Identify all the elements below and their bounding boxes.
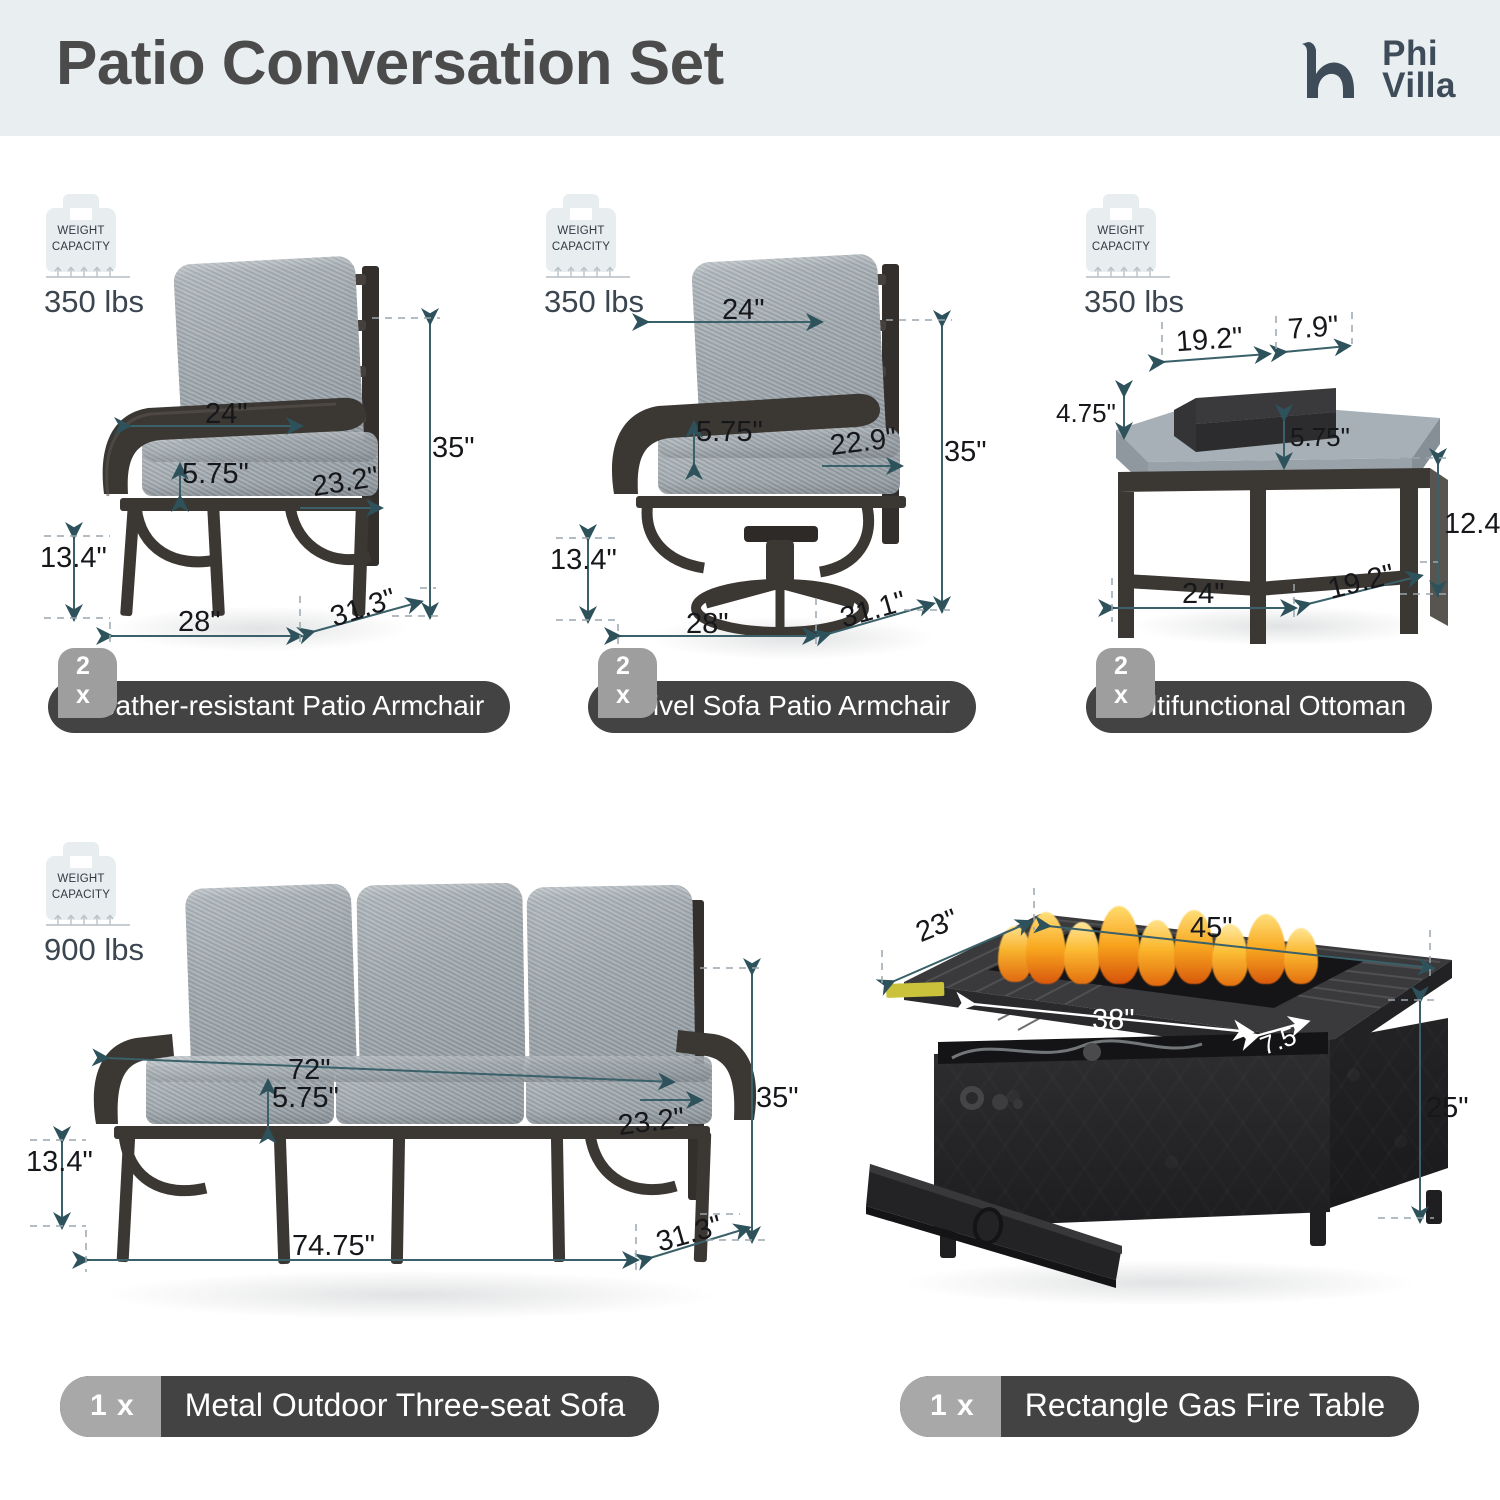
sofa-leg-curve — [110, 1126, 730, 1246]
dim-armchair-width: 28" — [178, 606, 221, 639]
ottoman-illustration — [1100, 366, 1460, 656]
dim-sofa-seat-height: 13.4" — [26, 1146, 93, 1179]
ottoman-frame — [1100, 466, 1460, 656]
badge-qty-ottoman: 2 x — [1096, 648, 1155, 718]
armchair-illustration — [90, 246, 460, 666]
dim-armchair-total-height: 35" — [432, 432, 475, 465]
fire-table-access-panel[interactable] — [860, 1140, 1180, 1320]
product-card-ottoman: WEIGHT CAPACITY 350 lbs — [1040, 136, 1500, 756]
fire-table-control-knob[interactable] — [952, 1080, 1032, 1120]
weight-capacity-label-line2: CAPACITY — [1086, 240, 1156, 256]
badge-qty-sofa: 1 x — [60, 1376, 161, 1437]
page-header: Patio Conversation Set Phi Villa — [0, 0, 1500, 136]
dim-swivel-back-width: 24" — [722, 294, 765, 327]
fire-flames — [992, 900, 1332, 990]
dim-firetable-burner-width: 38" — [1092, 1004, 1135, 1037]
badge-name-sofa: Metal Outdoor Three-seat Sofa — [161, 1376, 660, 1437]
dim-ottoman-width: 24" — [1182, 578, 1225, 611]
weight-capacity-value: 350 lbs — [1084, 284, 1184, 320]
dim-ottoman-frame-height: 12.4" — [1444, 508, 1500, 541]
badge-name-armchair: Weather-resistant Patio Armchair — [48, 681, 510, 733]
logo-line-villa: Villa — [1382, 70, 1456, 102]
product-card-swivel-armchair: WEIGHT CAPACITY 350 lbs — [500, 136, 1040, 756]
product-card-armchair: WEIGHT CAPACITY 350 lbs — [0, 136, 500, 756]
dim-firetable-height: 25" — [1426, 1092, 1469, 1125]
dim-ottoman-cushion-width: 19.2" — [1175, 322, 1244, 360]
badge-qty-swivel: 2 x — [598, 648, 657, 718]
weight-capacity-block-ottoman: WEIGHT CAPACITY 350 lbs — [1086, 194, 1156, 272]
weight-capacity-label-line1: WEIGHT — [546, 224, 616, 240]
fire-table-illustration — [860, 890, 1480, 1310]
armchair-leg-curve — [120, 498, 380, 608]
product-card-three-seat-sofa: WEIGHT CAPACITY 900 lbs — [0, 800, 820, 1500]
brand-logo: Phi Villa — [1298, 34, 1456, 106]
dim-armchair-back-width: 24" — [205, 398, 248, 431]
dim-swivel-seat-thickness: 5.75" — [696, 416, 763, 449]
dim-swivel-seat-height: 13.4" — [550, 544, 617, 577]
badge-name-firetable: Rectangle Gas Fire Table — [1001, 1376, 1419, 1437]
dim-ottoman-tray-thickness: 4.75" — [1056, 398, 1116, 429]
weight-arrows-icon — [1092, 266, 1164, 277]
page-title: Patio Conversation Set — [56, 28, 724, 99]
dim-sofa-width: 74.75" — [292, 1230, 375, 1263]
badge-qty-armchair: 2 x — [58, 648, 117, 718]
badge-qty-firetable: 1 x — [900, 1376, 1001, 1437]
dim-ottoman-tray-width: 7.9" — [1287, 310, 1340, 346]
dim-swivel-width: 28" — [686, 608, 729, 641]
dim-swivel-total-height: 35" — [944, 436, 987, 469]
product-card-gas-fire-table: 23" 45" 38" 7.5" 25" 1 x Rectangle Gas F… — [820, 800, 1500, 1500]
weight-capacity-icon: WEIGHT CAPACITY — [1086, 194, 1156, 272]
dim-sofa-seat-thickness: 5.75" — [272, 1082, 339, 1115]
brand-logo-text: Phi Villa — [1382, 38, 1456, 102]
dim-sofa-total-height: 35" — [756, 1082, 799, 1115]
weight-capacity-label-line1: WEIGHT — [46, 224, 116, 240]
dim-firetable-width: 45" — [1190, 912, 1233, 945]
dim-armchair-seat-thickness: 5.75" — [182, 458, 249, 491]
weight-capacity-label-line1: WEIGHT — [1086, 224, 1156, 240]
dim-armchair-seat-height: 13.4" — [40, 542, 107, 575]
dim-ottoman-cushion-thickness: 5.75" — [1290, 422, 1350, 453]
swivel-base-mechanism — [636, 496, 936, 646]
badge-gas-fire-table[interactable]: 1 x Rectangle Gas Fire Table — [900, 1376, 1419, 1437]
phi-villa-h-mark-icon — [1298, 34, 1370, 106]
swivel-armchair-illustration — [596, 246, 996, 666]
badge-three-seat-sofa[interactable]: 1 x Metal Outdoor Three-seat Sofa — [60, 1376, 659, 1437]
